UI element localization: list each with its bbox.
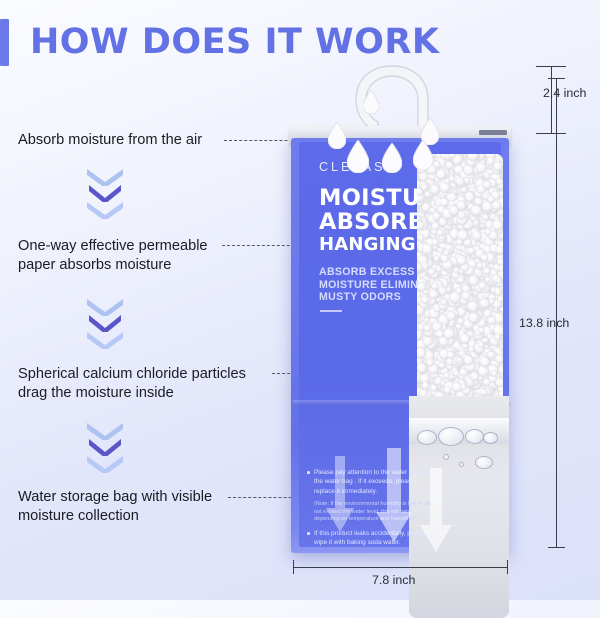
callout-water-storage: Water storage bag with visible moisture … bbox=[18, 488, 212, 526]
dimension-line-height bbox=[556, 78, 557, 548]
dimension-cap bbox=[536, 66, 566, 67]
chevron-arrow-group-3 bbox=[84, 420, 126, 482]
bubble-icon bbox=[417, 430, 437, 445]
title-accent-bar bbox=[0, 19, 9, 66]
downward-flow-arrow-icon bbox=[419, 468, 453, 554]
dimension-cap bbox=[536, 133, 566, 134]
bubble-icon bbox=[475, 456, 493, 469]
water-droplet-icon bbox=[347, 140, 369, 173]
bubble-icon bbox=[443, 454, 449, 460]
page-title: HOW DOES IT WORK bbox=[30, 22, 439, 62]
dimension-cap bbox=[548, 547, 565, 548]
dimension-cap bbox=[507, 560, 508, 574]
callout-line: Absorb moisture from the air bbox=[18, 131, 202, 150]
bag-body: CLEVAST MOISTURE ABSORBER HANGING BAG AB… bbox=[291, 138, 509, 553]
callout-absorb-air: Absorb moisture from the air bbox=[18, 131, 202, 150]
chevron-down-icon bbox=[84, 329, 126, 349]
dimension-cap bbox=[548, 78, 565, 79]
chevron-down-icon bbox=[84, 453, 126, 473]
downward-flow-arrow-icon bbox=[325, 456, 355, 534]
callout-calcium-chloride: Spherical calcium chloride particles dra… bbox=[18, 365, 246, 403]
water-droplet-icon bbox=[382, 143, 402, 173]
bubble-icon bbox=[465, 429, 484, 444]
bubble-icon bbox=[438, 427, 464, 446]
callout-line: Spherical calcium chloride particles bbox=[18, 365, 246, 384]
dimension-label-height: 13.8 inch bbox=[519, 316, 569, 330]
dimension-label-width: 7.8 inch bbox=[372, 573, 415, 587]
callout-permeable-paper: One-way effective permeable paper absorb… bbox=[18, 237, 208, 275]
dimension-line-top bbox=[551, 66, 552, 134]
callout-line: paper absorbs moisture bbox=[18, 256, 208, 275]
product-package: CLEVAST MOISTURE ABSORBER HANGING BAG AB… bbox=[289, 60, 511, 560]
calcium-chloride-particles-window bbox=[417, 154, 503, 401]
chevron-arrow-group-1 bbox=[84, 166, 126, 228]
bubble-icon bbox=[459, 462, 464, 467]
dimension-line-width bbox=[293, 567, 508, 568]
seal-tab-icon bbox=[479, 130, 507, 135]
chevron-down-icon bbox=[84, 199, 126, 219]
callout-line: One-way effective permeable bbox=[18, 237, 208, 256]
callout-line: Water storage bag with visible bbox=[18, 488, 212, 507]
water-droplet-icon bbox=[413, 140, 433, 170]
water-droplet-icon bbox=[328, 122, 346, 149]
downward-flow-arrow-icon bbox=[375, 448, 413, 544]
bubble-icon bbox=[483, 432, 498, 444]
dimension-label-top: 2.4 inch bbox=[543, 86, 586, 100]
callout-line: moisture collection bbox=[18, 507, 212, 526]
dimension-cap bbox=[293, 560, 294, 574]
water-droplet-icon bbox=[363, 90, 379, 114]
decorative-rule bbox=[320, 310, 342, 312]
callout-line: drag the moisture inside bbox=[18, 384, 246, 403]
chevron-arrow-group-2 bbox=[84, 296, 126, 358]
